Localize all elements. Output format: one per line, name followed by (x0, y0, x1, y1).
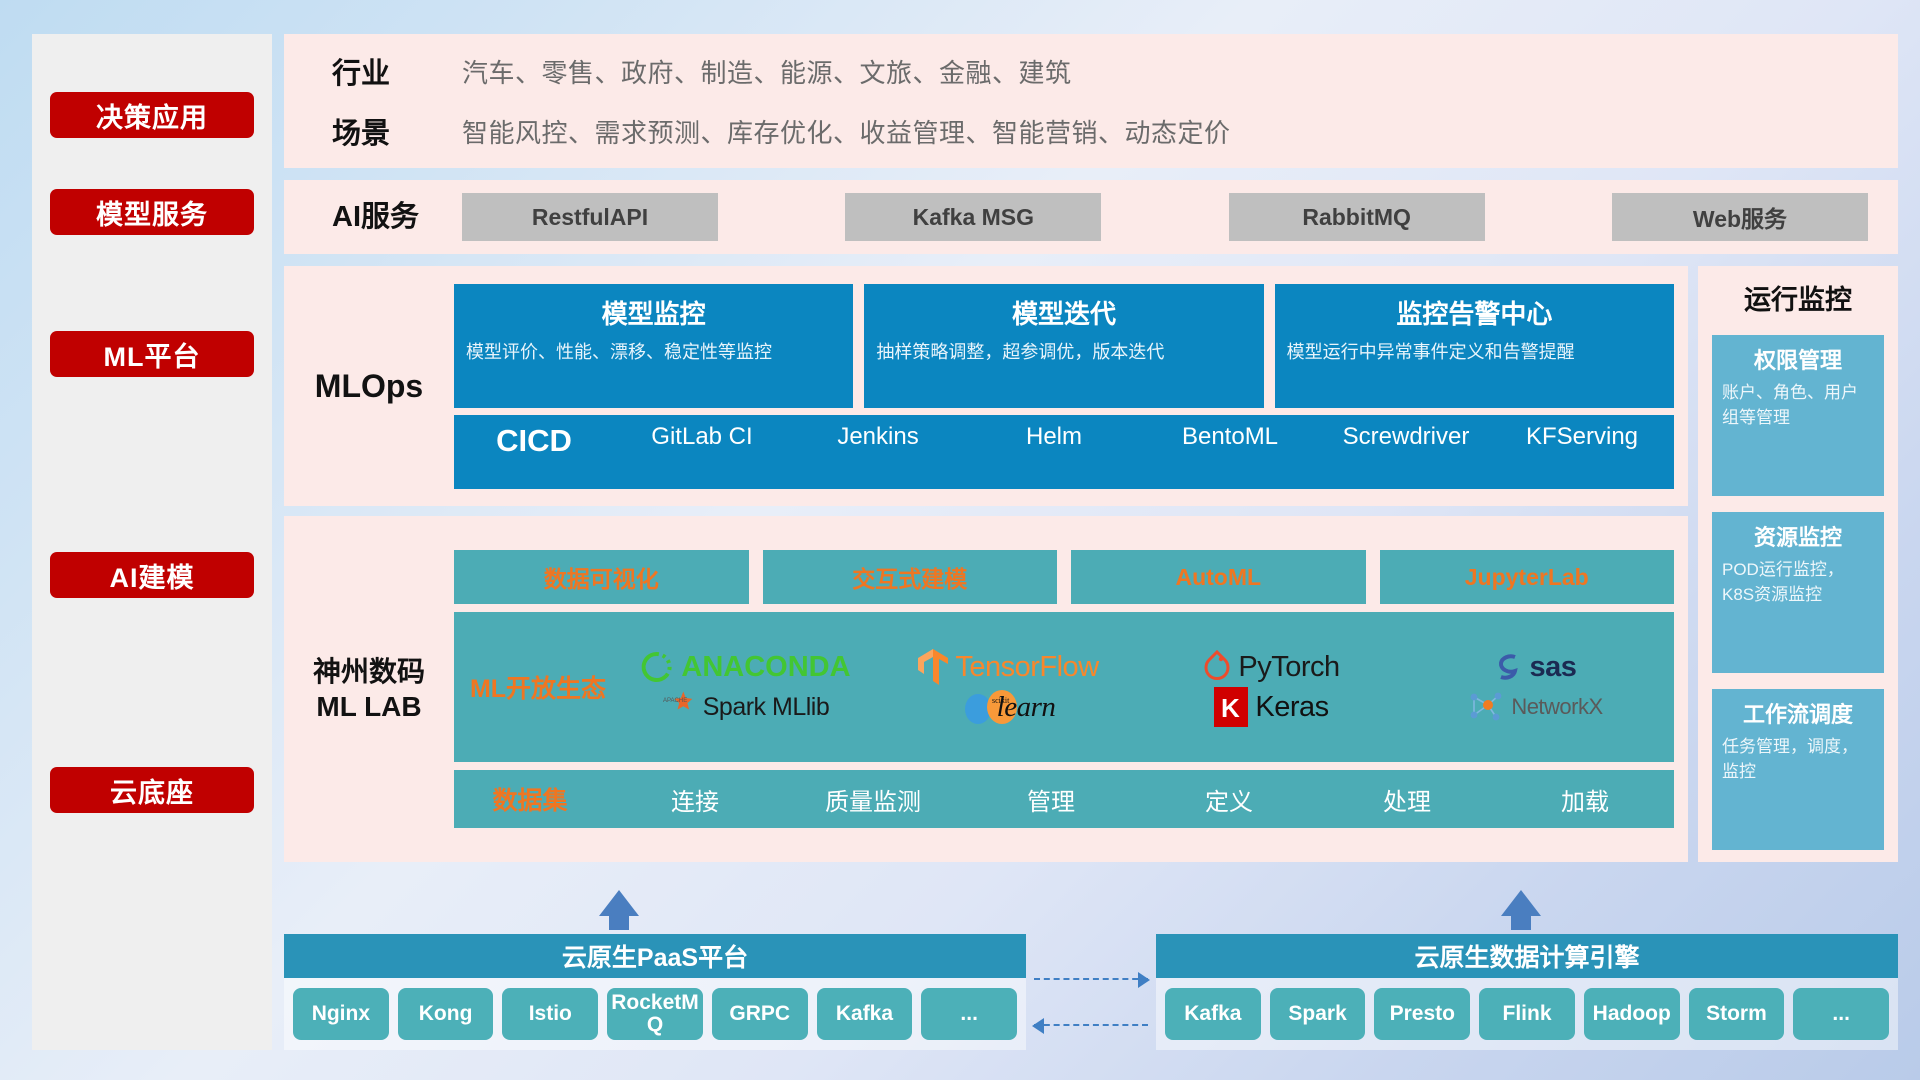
mlops-band: MLOps 模型监控 模型评价、性能、漂移、稳定性等监控 模型迭代 抽样策略调整… (284, 266, 1688, 506)
keras-logo: K Keras (1214, 687, 1328, 727)
tool-chip-automl[interactable]: AutoML (1071, 550, 1366, 604)
rail-item-ml-platform[interactable]: ML平台 (50, 331, 254, 377)
ml-lab-label-line1: 神州数码 (313, 656, 425, 687)
paas-chip-grpc[interactable]: GRPC (712, 988, 808, 1040)
mlops-card-group: 模型监控 模型评价、性能、漂移、稳定性等监控 模型迭代 抽样策略调整，超参调优，… (454, 284, 1674, 408)
cloud-paas-chip-group: Nginx Kong Istio RocketMQ GRPC Kafka ... (284, 978, 1026, 1050)
card-desc: 抽样策略调整，超参调优，版本迭代 (876, 339, 1251, 365)
ai-service-chip-group: RestfulAPI Kafka MSG RabbitMQ Web服务 (462, 193, 1872, 241)
tool-chip-interactive-modeling[interactable]: 交互式建模 (763, 550, 1058, 604)
scenario-values: 智能风控、需求预测、库存优化、收益管理、智能营销、动态定价 (462, 113, 1231, 150)
monitor-card-workflow[interactable]: 工作流调度 任务管理，调度，监控 (1712, 689, 1884, 850)
card-title: 模型监控 (466, 294, 841, 331)
sas-logo: sas (1493, 651, 1577, 684)
platform-left: MLOps 模型监控 模型评价、性能、漂移、稳定性等监控 模型迭代 抽样策略调整… (284, 266, 1688, 862)
cloud-compute-title: 云原生数据计算引擎 (1156, 934, 1898, 978)
paas-chip-more[interactable]: ... (921, 988, 1017, 1040)
decision-apps-band: 行业 汽车、零售、政府、制造、能源、文旅、金融、建筑 场景 智能风控、需求预测、… (284, 34, 1898, 168)
dataset-label: 数据集 (454, 781, 606, 817)
cloud-compute-chip-group: Kafka Spark Presto Flink Hadoop Storm ..… (1156, 978, 1898, 1050)
dataset-row: 数据集 连接 质量监测 管理 定义 处理 加载 (454, 770, 1674, 828)
rail-item-model-service[interactable]: 模型服务 (50, 189, 254, 235)
industry-row: 行业 汽车、零售、政府、制造、能源、文旅、金融、建筑 (310, 50, 1872, 92)
ai-service-chip-rabbitmq[interactable]: RabbitMQ (1229, 193, 1485, 241)
cicd-row: CICD GitLab CI Jenkins Helm BentoML Scre… (454, 415, 1674, 489)
platform-region: MLOps 模型监控 模型评价、性能、漂移、稳定性等监控 模型迭代 抽样策略调整… (284, 266, 1898, 862)
cloud-base-region: 云原生PaaS平台 Nginx Kong Istio RocketMQ GRPC… (284, 874, 1898, 1050)
cicd-item-screwdriver[interactable]: Screwdriver (1318, 423, 1494, 451)
dataset-item-define[interactable]: 定义 (1140, 782, 1318, 817)
compute-chip-kafka[interactable]: Kafka (1165, 988, 1261, 1040)
compute-chip-spark[interactable]: Spark (1270, 988, 1366, 1040)
scenario-label: 场景 (310, 110, 462, 152)
scikit-learn-label: learn (997, 691, 1056, 724)
compute-chip-storm[interactable]: Storm (1689, 988, 1785, 1040)
networkx-label: NetworkX (1511, 694, 1602, 720)
sas-icon (1493, 651, 1523, 683)
card-desc: 模型评价、性能、漂移、稳定性等监控 (466, 339, 841, 365)
dataset-item-manage[interactable]: 管理 (962, 782, 1140, 817)
spark-mllib-label: Spark MLlib (703, 693, 830, 722)
anaconda-label: ANACONDA (681, 651, 850, 684)
pytorch-label: PyTorch (1238, 651, 1339, 684)
layer-rail: 决策应用 模型服务 ML平台 AI建模 云底座 (32, 34, 272, 1050)
industry-label: 行业 (310, 50, 462, 92)
spark-icon: APACHE (662, 689, 696, 725)
arrow-up-compute-icon (1501, 890, 1541, 916)
ml-ecosystem-row: ML开放生态 ANACONDA (454, 612, 1674, 762)
dataset-item-quality[interactable]: 质量监测 (784, 782, 962, 817)
dataset-item-connect[interactable]: 连接 (606, 782, 784, 817)
cicd-item-jenkins[interactable]: Jenkins (790, 423, 966, 451)
paas-chip-rocketmq[interactable]: RocketMQ (607, 988, 703, 1040)
industry-values: 汽车、零售、政府、制造、能源、文旅、金融、建筑 (462, 53, 1072, 90)
tensorflow-icon (918, 649, 948, 685)
card-desc: 账户、角色、用户组等管理 (1722, 381, 1874, 430)
card-title: 工作流调度 (1722, 697, 1874, 729)
keras-icon: K (1214, 687, 1248, 727)
card-title: 模型迭代 (876, 294, 1251, 331)
anaconda-icon (640, 650, 674, 684)
tensorflow-label: TensorFlow (955, 651, 1098, 684)
spark-mllib-logo: APACHE Spark MLlib (662, 689, 830, 725)
ai-service-band: AI服务 RestfulAPI Kafka MSG RabbitMQ Web服务 (284, 180, 1898, 254)
ai-service-chip-restfulapi[interactable]: RestfulAPI (462, 193, 718, 241)
main-column: 行业 汽车、零售、政府、制造、能源、文旅、金融、建筑 场景 智能风控、需求预测、… (284, 34, 1898, 1050)
monitor-card-permission[interactable]: 权限管理 账户、角色、用户组等管理 (1712, 335, 1884, 496)
card-title: 权限管理 (1722, 343, 1874, 375)
cicd-item-helm[interactable]: Helm (966, 423, 1142, 451)
cloud-paas-block: 云原生PaaS平台 Nginx Kong Istio RocketMQ GRPC… (284, 892, 1026, 1050)
ml-lab-label-line2: ML LAB (316, 691, 421, 722)
card-desc: 任务管理，调度，监控 (1722, 735, 1874, 784)
dataset-item-load[interactable]: 加载 (1496, 782, 1674, 817)
architecture-diagram: 决策应用 模型服务 ML平台 AI建模 云底座 行业 汽车、零售、政府、制造、能… (0, 0, 1920, 1080)
mlops-card-alert-center[interactable]: 监控告警中心 模型运行中异常事件定义和告警提醒 (1275, 284, 1674, 408)
ai-modeling-band: 神州数码 ML LAB 数据可视化 交互式建模 AutoML JupyterLa… (284, 516, 1688, 862)
dataset-item-process[interactable]: 处理 (1318, 782, 1496, 817)
compute-chip-hadoop[interactable]: Hadoop (1584, 988, 1680, 1040)
arrow-up-paas-icon (599, 890, 639, 916)
networkx-icon (1466, 689, 1504, 725)
ml-lab-label: 神州数码 ML LAB (284, 654, 454, 724)
ai-service-label: AI服务 (310, 199, 462, 235)
cloud-link-connector (1026, 874, 1156, 1050)
card-title: 监控告警中心 (1287, 294, 1662, 331)
paas-chip-kafka[interactable]: Kafka (817, 988, 913, 1040)
anaconda-logo: ANACONDA (640, 650, 850, 684)
card-desc: POD运行监控，K8S资源监控 (1722, 558, 1874, 607)
ai-service-chip-web[interactable]: Web服务 (1612, 193, 1868, 241)
keras-label: Keras (1255, 691, 1328, 724)
cicd-item-bentoml[interactable]: BentoML (1142, 423, 1318, 451)
mlops-card-model-iteration[interactable]: 模型迭代 抽样策略调整，超参调优，版本迭代 (864, 284, 1263, 408)
runtime-monitor-title: 运行监控 (1712, 278, 1884, 317)
paas-chip-kong[interactable]: Kong (398, 988, 494, 1040)
rail-item-decision-apps[interactable]: 决策应用 (50, 92, 254, 138)
modeling-tool-group: 数据可视化 交互式建模 AutoML JupyterLab (454, 550, 1674, 604)
pytorch-icon (1203, 650, 1231, 684)
dashed-arrow-left-icon (1034, 1024, 1148, 1026)
scikit-learn-logo: scikit learn (962, 687, 1056, 727)
compute-chip-presto[interactable]: Presto (1374, 988, 1470, 1040)
cicd-item-gitlab-ci[interactable]: GitLab CI (614, 423, 790, 451)
compute-chip-flink[interactable]: Flink (1479, 988, 1575, 1040)
card-title: 资源监控 (1722, 520, 1874, 552)
cicd-label: CICD (454, 423, 614, 459)
svg-text:K: K (1221, 693, 1240, 723)
scenario-row: 场景 智能风控、需求预测、库存优化、收益管理、智能营销、动态定价 (310, 110, 1872, 152)
tool-chip-jupyterlab[interactable]: JupyterLab (1380, 550, 1675, 604)
ai-service-chip-kafka-msg[interactable]: Kafka MSG (845, 193, 1101, 241)
svg-text:APACHE: APACHE (663, 698, 687, 704)
cloud-compute-block: 云原生数据计算引擎 Kafka Spark Presto Flink Hadoo… (1156, 892, 1898, 1050)
dashed-arrow-right-icon (1034, 978, 1148, 980)
cloud-paas-title: 云原生PaaS平台 (284, 934, 1026, 978)
sas-label: sas (1530, 651, 1577, 684)
rail-item-ai-modeling[interactable]: AI建模 (50, 552, 254, 598)
compute-chip-more[interactable]: ... (1793, 988, 1889, 1040)
card-desc: 模型运行中异常事件定义和告警提醒 (1287, 339, 1662, 365)
paas-chip-istio[interactable]: Istio (502, 988, 598, 1040)
runtime-monitor-panel: 运行监控 权限管理 账户、角色、用户组等管理 资源监控 POD运行监控，K8S资… (1698, 266, 1898, 862)
networkx-logo: NetworkX (1466, 689, 1602, 725)
mlops-card-model-monitoring[interactable]: 模型监控 模型评价、性能、漂移、稳定性等监控 (454, 284, 853, 408)
tool-chip-data-visualization[interactable]: 数据可视化 (454, 550, 749, 604)
rail-item-cloud-base[interactable]: 云底座 (50, 767, 254, 813)
mlops-label: MLOps (284, 366, 454, 406)
pytorch-logo: PyTorch (1203, 650, 1339, 684)
monitor-card-resource[interactable]: 资源监控 POD运行监控，K8S资源监控 (1712, 512, 1884, 673)
ml-ecosystem-label: ML开放生态 (462, 669, 614, 705)
paas-chip-nginx[interactable]: Nginx (293, 988, 389, 1040)
cicd-item-kfserving[interactable]: KFServing (1494, 423, 1670, 451)
tensorflow-logo: TensorFlow (918, 649, 1098, 685)
